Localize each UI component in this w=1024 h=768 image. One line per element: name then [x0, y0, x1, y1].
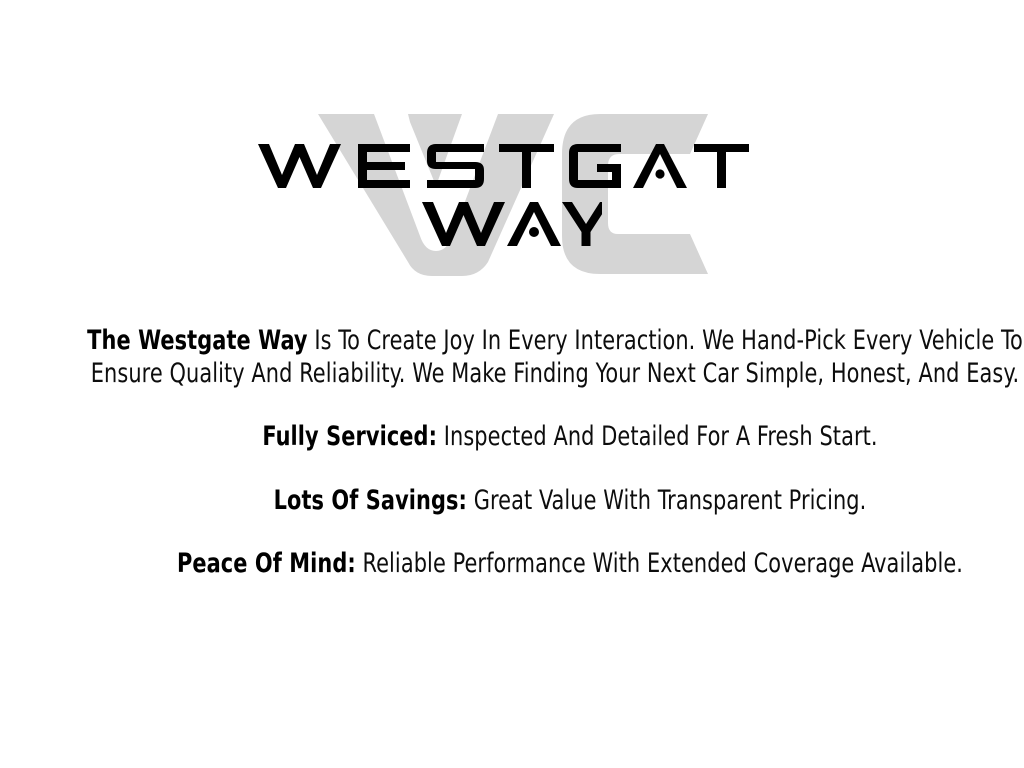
benefit-peace-of-mind: Peace Of Mind: Reliable Performance With…: [80, 548, 1024, 581]
benefit-lead: Peace Of Mind:: [177, 548, 356, 579]
spacer: [0, 454, 1024, 485]
logo-wordmark-way: [0, 200, 1024, 252]
spacer: [0, 390, 1024, 421]
benefit-lead: Fully Serviced:: [262, 421, 437, 452]
body-copy: The Westgate Way Is To Create Joy In Eve…: [0, 325, 1024, 581]
benefit-lead: Lots Of Savings:: [274, 485, 467, 516]
page-root: The Westgate Way Is To Create Joy In Eve…: [0, 0, 1024, 768]
benefit-text: Inspected And Detailed For A Fresh Start…: [437, 421, 878, 452]
wc-monogram-watermark: [312, 110, 712, 278]
intro-paragraph: The Westgate Way Is To Create Joy In Eve…: [78, 325, 1024, 390]
intro-lead: The Westgate Way: [87, 325, 307, 356]
benefit-fully-serviced: Fully Serviced: Inspected And Detailed F…: [80, 421, 1024, 454]
benefit-text: Great Value With Transparent Pricing.: [467, 485, 866, 516]
spacer: [0, 517, 1024, 548]
logo-wordmark-westgate: [0, 142, 1024, 194]
benefit-text: Reliable Performance With Extended Cover…: [356, 548, 963, 579]
logo-block: [0, 100, 1024, 285]
benefit-lots-of-savings: Lots Of Savings: Great Value With Transp…: [80, 485, 1024, 518]
